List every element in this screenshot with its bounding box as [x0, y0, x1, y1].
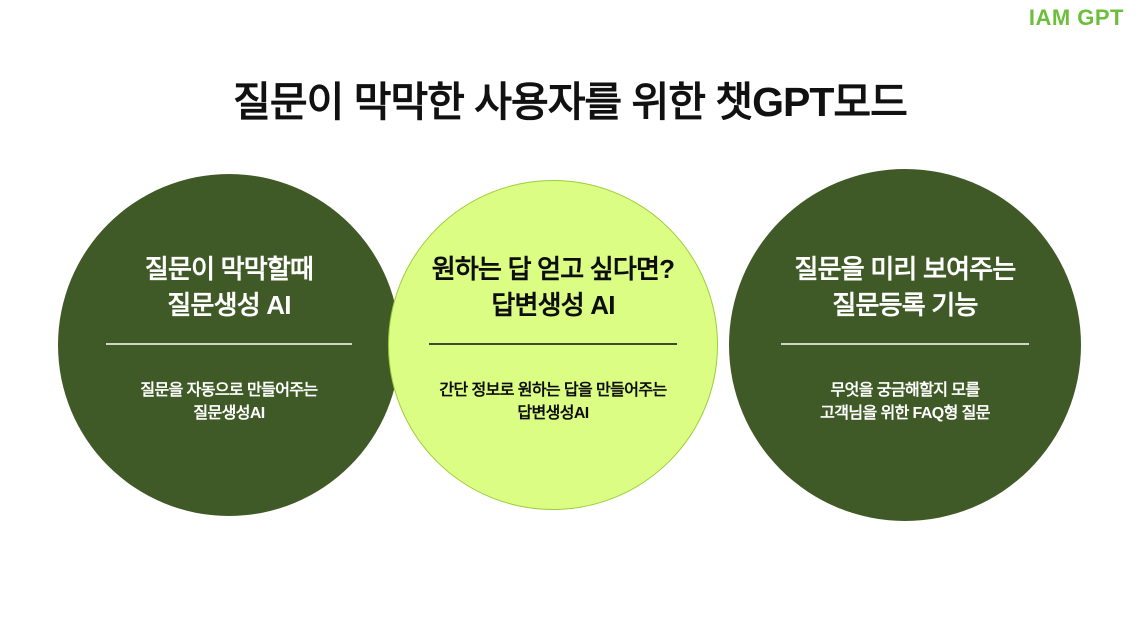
circle-body: 질문을 자동으로 만들어주는 질문생성AI — [140, 379, 317, 425]
circle-content: 질문을 미리 보여주는 질문등록 기능 무엇을 궁금해할지 모를 고객님을 위한… — [729, 252, 1081, 425]
feature-circle-answer-generation[interactable]: 원하는 답 얻고 싶다면? 답변생성 AI 간단 정보로 원하는 답을 만들어주… — [388, 180, 718, 510]
circle-divider — [106, 343, 352, 345]
circle-heading: 질문이 막막할때 질문생성 AI — [145, 252, 313, 324]
feature-circle-question-registration[interactable]: 질문을 미리 보여주는 질문등록 기능 무엇을 궁금해할지 모를 고객님을 위한… — [729, 169, 1081, 521]
venn-diagram: 질문이 막막할때 질문생성 AI 질문을 자동으로 만들어주는 질문생성AI 원… — [0, 0, 1140, 640]
circle-content: 원하는 답 얻고 싶다면? 답변생성 AI 간단 정보로 원하는 답을 만들어주… — [389, 252, 717, 425]
circle-body: 무엇을 궁금해할지 모를 고객님을 위한 FAQ형 질문 — [820, 379, 990, 425]
circle-heading: 질문을 미리 보여주는 질문등록 기능 — [795, 252, 1016, 324]
circle-content: 질문이 막막할때 질문생성 AI 질문을 자동으로 만들어주는 질문생성AI — [58, 252, 400, 425]
circle-body: 간단 정보로 원하는 답을 만들어주는 답변생성AI — [439, 379, 666, 425]
circle-divider — [429, 343, 677, 345]
slide-canvas: IAM GPT 질문이 막막한 사용자를 위한 챗GPT모드 질문이 막막할때 … — [0, 0, 1140, 640]
feature-circle-question-generation[interactable]: 질문이 막막할때 질문생성 AI 질문을 자동으로 만들어주는 질문생성AI — [58, 174, 400, 516]
circle-divider — [781, 343, 1029, 345]
circle-heading: 원하는 답 얻고 싶다면? 답변생성 AI — [432, 252, 674, 324]
